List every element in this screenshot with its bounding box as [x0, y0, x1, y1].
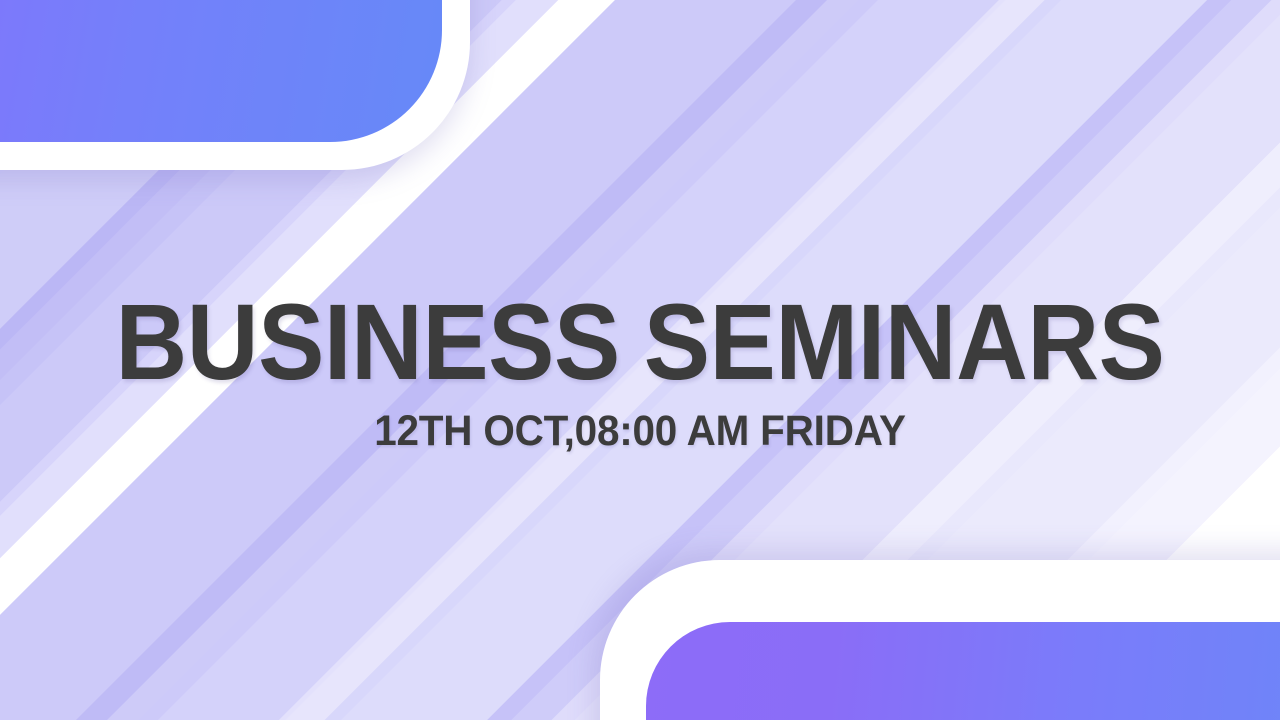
top-left-panel-gradient-fill — [0, 0, 442, 142]
title-word-business: BUSINESS — [115, 281, 619, 402]
page-title: BUSINESSSEMINARS — [51, 288, 1229, 396]
event-datetime-subtitle: 12TH OCT,08:00 AM FRIDAY — [38, 410, 1241, 453]
event-banner-poster: BUSINESSSEMINARS 12TH OCT,08:00 AM FRIDA… — [0, 0, 1280, 720]
top-left-gradient-panel — [0, 0, 470, 170]
bottom-right-gradient-panel — [600, 560, 1280, 720]
headline-block: BUSINESSSEMINARS 12TH OCT,08:00 AM FRIDA… — [0, 288, 1280, 453]
title-word-seminars: SEMINARS — [644, 281, 1165, 402]
bottom-right-panel-gradient-fill — [646, 622, 1280, 720]
